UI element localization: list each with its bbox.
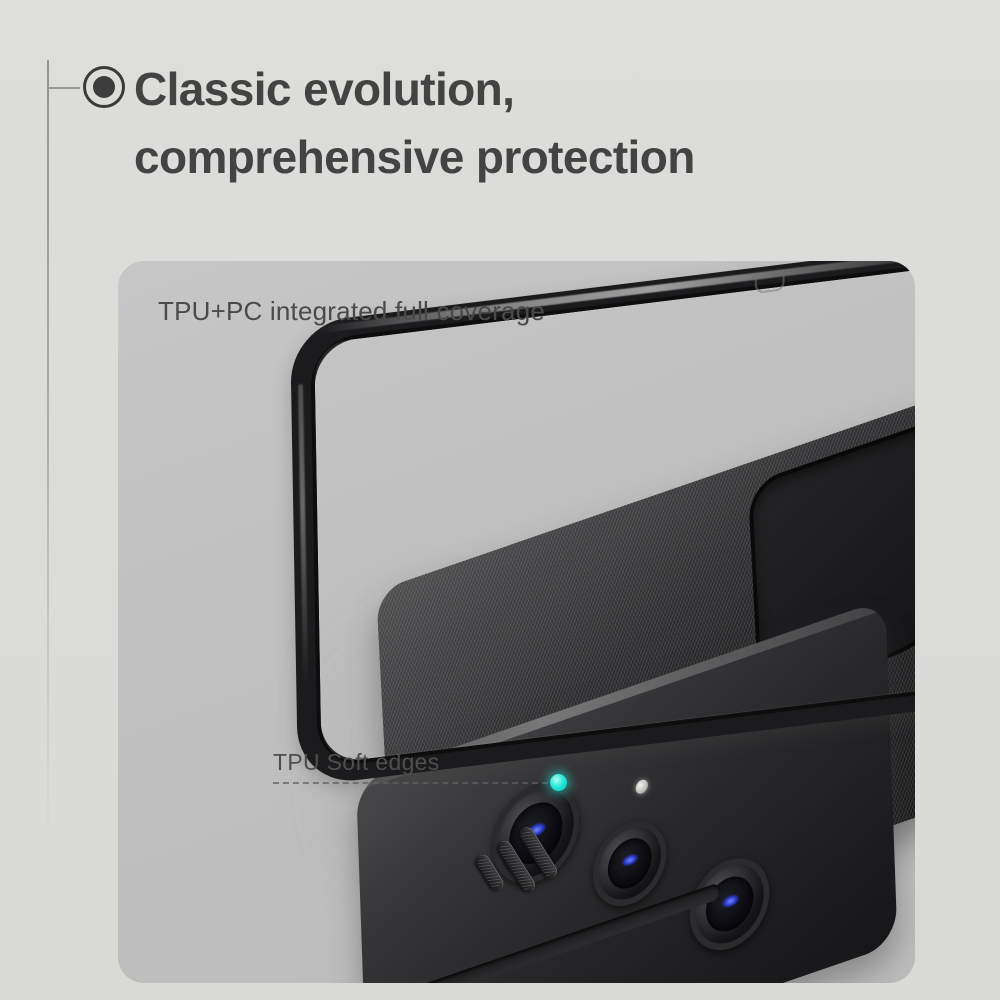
vertical-accent-rule (47, 60, 49, 850)
camera-flash (635, 778, 648, 796)
bumper-inner-lip (310, 261, 915, 769)
tpu-bumper-frame (290, 261, 915, 787)
page-root: Classic evolution, comprehensive protect… (0, 0, 1000, 1000)
headline-line-1: Classic evolution, (134, 58, 874, 120)
product-feature-panel: TPU+PC integrated full coverage (118, 261, 915, 983)
camera-lens-2 (591, 810, 668, 917)
horizontal-accent-tick (49, 87, 80, 89)
page-title: Classic evolution, comprehensive protect… (134, 58, 874, 188)
callout-label-tpu-soft-edges: TPU Soft edges (273, 749, 440, 776)
panel-title: TPU+PC integrated full coverage (158, 296, 545, 327)
product-illustration (118, 261, 915, 983)
callout-dot-icon-tpu-soft-edges (550, 774, 567, 791)
headline-line-2: comprehensive protection (134, 126, 874, 188)
callout-leader-line-tpu-soft-edges (273, 782, 558, 784)
target-dot-icon (83, 66, 125, 108)
